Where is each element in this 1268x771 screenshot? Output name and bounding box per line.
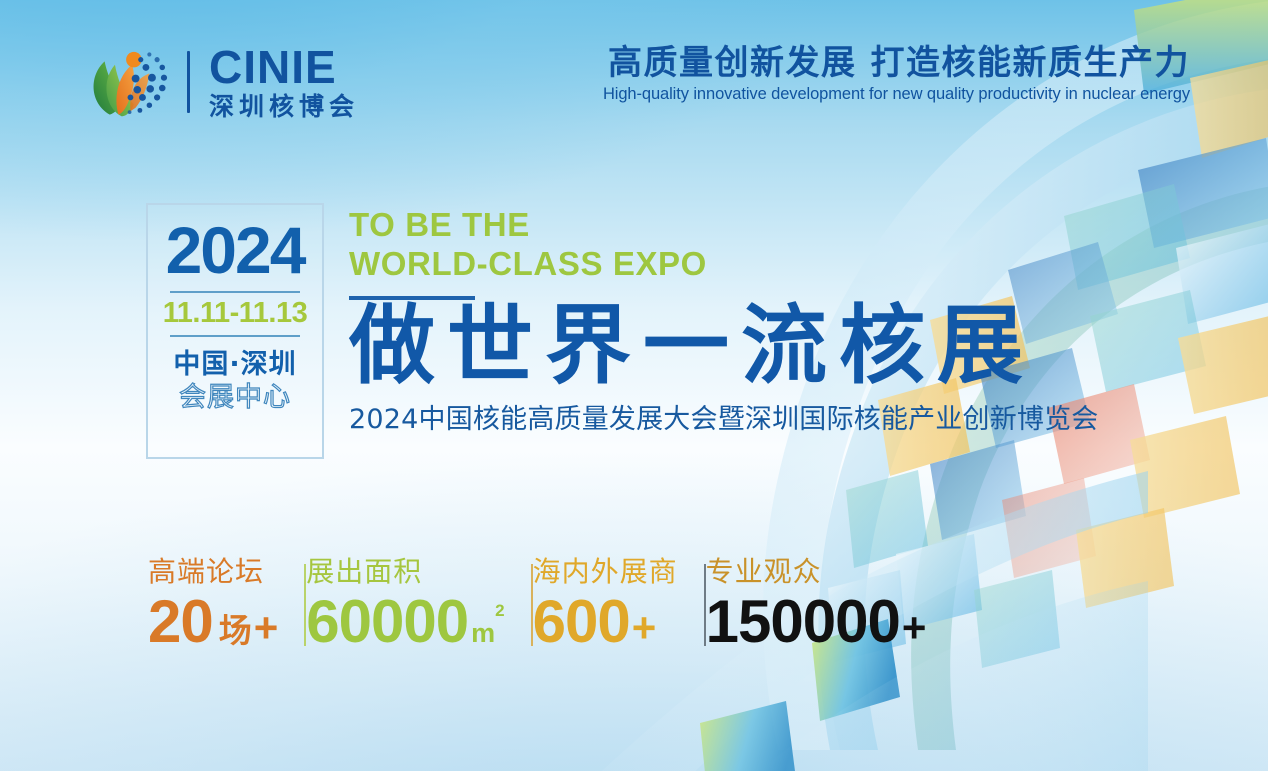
- cinie-logo[interactable]: CINIE 深圳核博会: [84, 38, 359, 126]
- headline-subtitle: 2024中国核能高质量发展大会暨深圳国际核能产业创新博览会: [349, 397, 1099, 436]
- event-banner: CINIE 深圳核博会 高质量创新发展打造核能新质生产力 High-qualit…: [0, 0, 1268, 771]
- datebox-rule-top: [170, 291, 300, 293]
- stat-exhibitors-label: 海内外展商: [533, 556, 678, 588]
- stat-exhibitors-value: 600 +: [533, 592, 678, 652]
- headline-block: TO BE THE WORLD-CLASS EXPO 做世界一流核展 2024中…: [349, 206, 1099, 436]
- stat-area-unit-exponent: 2: [495, 601, 504, 620]
- stat-visitors-label: 专业观众: [706, 556, 927, 588]
- stat-visitors: 专业观众 150000 +: [706, 556, 953, 652]
- stat-area-unit: m2: [471, 618, 504, 647]
- event-dates: 11.11-11.13: [163, 299, 308, 328]
- logo-name-en: CINIE: [209, 45, 359, 89]
- datebox-rule-bottom: [170, 335, 300, 337]
- stat-area-unit-base: m: [471, 618, 495, 648]
- slogan-chinese: 高质量创新发展打造核能新质生产力: [603, 44, 1190, 82]
- event-city: 中国·深圳: [173, 349, 296, 381]
- stat-exhibitors: 海内外展商 600 +: [533, 556, 704, 652]
- stat-visitors-value: 150000 +: [706, 592, 927, 652]
- headline-english-line1: TO BE THE: [349, 206, 1099, 245]
- slogan-chinese-part1: 高质量创新发展: [608, 43, 857, 83]
- event-year: 2024: [166, 217, 305, 283]
- stat-visitors-plus: +: [902, 607, 927, 649]
- stat-visitors-number: 150000: [706, 592, 900, 652]
- stat-area-number: 60000: [306, 592, 468, 652]
- stats-row: 高端论坛 20 场 + 展出面积 60000 m2 海内外展商 600 +: [148, 556, 952, 652]
- headline-chinese: 做世界一流核展: [349, 302, 1099, 391]
- stat-area-label: 展出面积: [306, 556, 504, 588]
- stat-exhibitors-plus: +: [632, 607, 657, 649]
- stat-forums-plus: +: [254, 607, 279, 649]
- logo-divider: [187, 51, 190, 113]
- stat-area-value: 60000 m2: [306, 592, 504, 652]
- stat-area: 展出面积 60000 m2: [306, 556, 530, 652]
- logo-name-cn: 深圳核博会: [209, 94, 359, 119]
- stat-forums: 高端论坛 20 场 +: [148, 556, 304, 652]
- stat-forums-value: 20 场 +: [148, 592, 278, 652]
- stat-forums-number: 20: [148, 592, 213, 652]
- stat-forums-label: 高端论坛: [148, 556, 278, 588]
- banner-header: CINIE 深圳核博会 高质量创新发展打造核能新质生产力 High-qualit…: [0, 0, 1268, 150]
- date-venue-box: 2024 11.11-11.13 中国·深圳 会展中心: [146, 203, 324, 459]
- event-slogan: 高质量创新发展打造核能新质生产力 High-quality innovative…: [603, 44, 1190, 104]
- cinie-leaf-globe-logo-icon: [84, 38, 170, 126]
- stat-exhibitors-number: 600: [533, 592, 630, 652]
- headline-english-line2: WORLD-CLASS EXPO: [349, 245, 1099, 284]
- slogan-english: High-quality innovative development for …: [603, 85, 1190, 104]
- stat-forums-unit: 场: [219, 614, 252, 647]
- slogan-chinese-part2: 打造核能新质生产力: [871, 43, 1191, 83]
- event-venue: 会展中心: [179, 381, 291, 415]
